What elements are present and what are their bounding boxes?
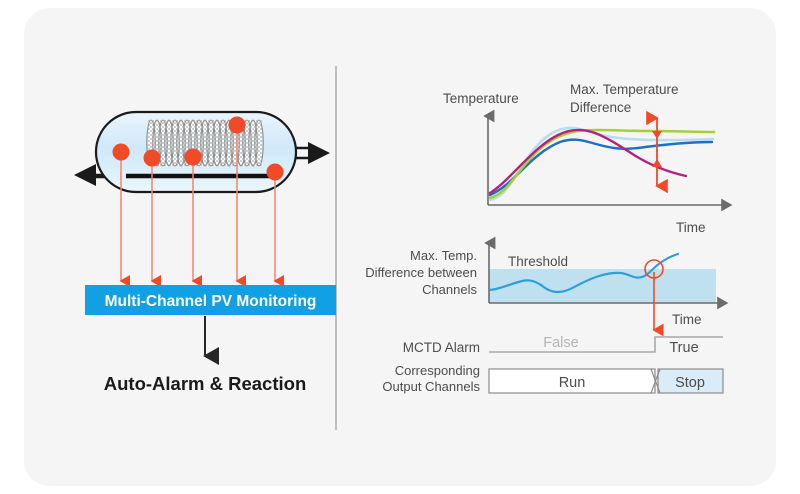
mctd-alarm-state-true: True xyxy=(669,340,698,356)
mctd-ylabel-line1: Max. Temp. xyxy=(410,248,477,263)
mctd-alarm-state-false: False xyxy=(543,335,578,351)
temperature-difference-annotation-line2: Difference xyxy=(570,100,631,115)
output-channels-label-line1: Corresponding xyxy=(395,363,480,378)
diagram-stage: Multi-Channel PV Monitoring Auto-Alarm &… xyxy=(0,0,800,494)
mctd-alarm-row: MCTD Alarm False True xyxy=(403,335,723,356)
sensor-dot-2 xyxy=(144,150,161,167)
heating-coil xyxy=(147,120,263,166)
monitoring-banner[interactable]: Multi-Channel PV Monitoring xyxy=(85,285,336,315)
temperature-difference-arrowhead-top xyxy=(652,131,662,139)
mctd-ylabel-line2: Difference between xyxy=(365,265,477,280)
output-channels-state-stop: Stop xyxy=(675,375,705,391)
output-channels-row: Corresponding Output Channels Run Stop xyxy=(382,363,723,394)
temperature-xlabel: Time xyxy=(676,220,706,235)
temperature-difference-annotation-line1: Max. Temperature xyxy=(570,82,679,97)
temperature-ylabel: Temperature xyxy=(443,91,519,106)
mctd-xlabel: Time xyxy=(672,312,702,327)
max-temp-difference-chart: Max. Temp. Difference between Channels T… xyxy=(365,243,722,327)
sensor-dot-1 xyxy=(113,144,130,161)
output-channels-state-run: Run xyxy=(559,375,586,391)
mctd-ylabel-line3: Channels xyxy=(422,282,477,297)
mctd-alarm-label: MCTD Alarm xyxy=(403,340,480,355)
outcome-label: Auto-Alarm & Reaction xyxy=(104,373,307,394)
temperature-difference-arrowhead-bottom xyxy=(652,159,662,167)
sensor-dot-3 xyxy=(185,149,202,166)
temperature-chart: Temperature Time Max. Temperature Differ… xyxy=(443,82,726,235)
threshold-label: Threshold xyxy=(508,254,568,269)
monitoring-banner-label: Multi-Channel PV Monitoring xyxy=(105,293,317,310)
reactor-vessel-group xyxy=(74,112,330,192)
sensor-dot-5 xyxy=(267,164,284,181)
sensor-dot-4 xyxy=(229,117,246,134)
output-channels-label-line2: Output Channels xyxy=(382,379,480,394)
outlet-arrow-right xyxy=(292,142,330,164)
